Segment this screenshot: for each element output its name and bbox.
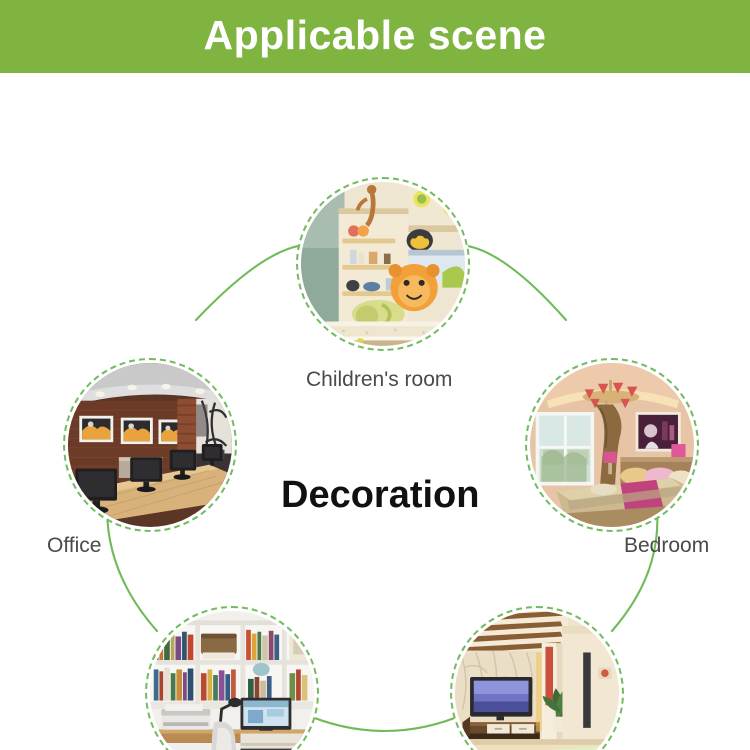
node-study[interactable]	[145, 606, 319, 750]
office-photo	[68, 363, 232, 527]
node-children-room[interactable]	[296, 177, 470, 351]
bedroom-photo	[530, 363, 694, 527]
label-children-room: Children's room	[306, 369, 452, 390]
label-office: Office	[47, 535, 101, 556]
page-title: Applicable scene	[204, 15, 547, 56]
connector-living-study	[302, 713, 467, 731]
applicable-scene-infographic: Applicable scene	[0, 0, 750, 750]
center-title: Decoration	[281, 476, 479, 514]
label-bedroom: Bedroom	[624, 535, 709, 556]
header-banner: Applicable scene	[0, 0, 750, 73]
node-living-room[interactable]	[450, 606, 624, 750]
study-photo	[150, 611, 314, 750]
childrens-room-photo	[301, 182, 465, 346]
connector-office-children	[196, 245, 310, 320]
scene-diagram: Children's room	[0, 73, 750, 750]
connector-children-bedroom	[456, 245, 566, 320]
node-office[interactable]	[63, 358, 237, 532]
node-bedroom[interactable]	[525, 358, 699, 532]
living-room-photo	[455, 611, 619, 750]
